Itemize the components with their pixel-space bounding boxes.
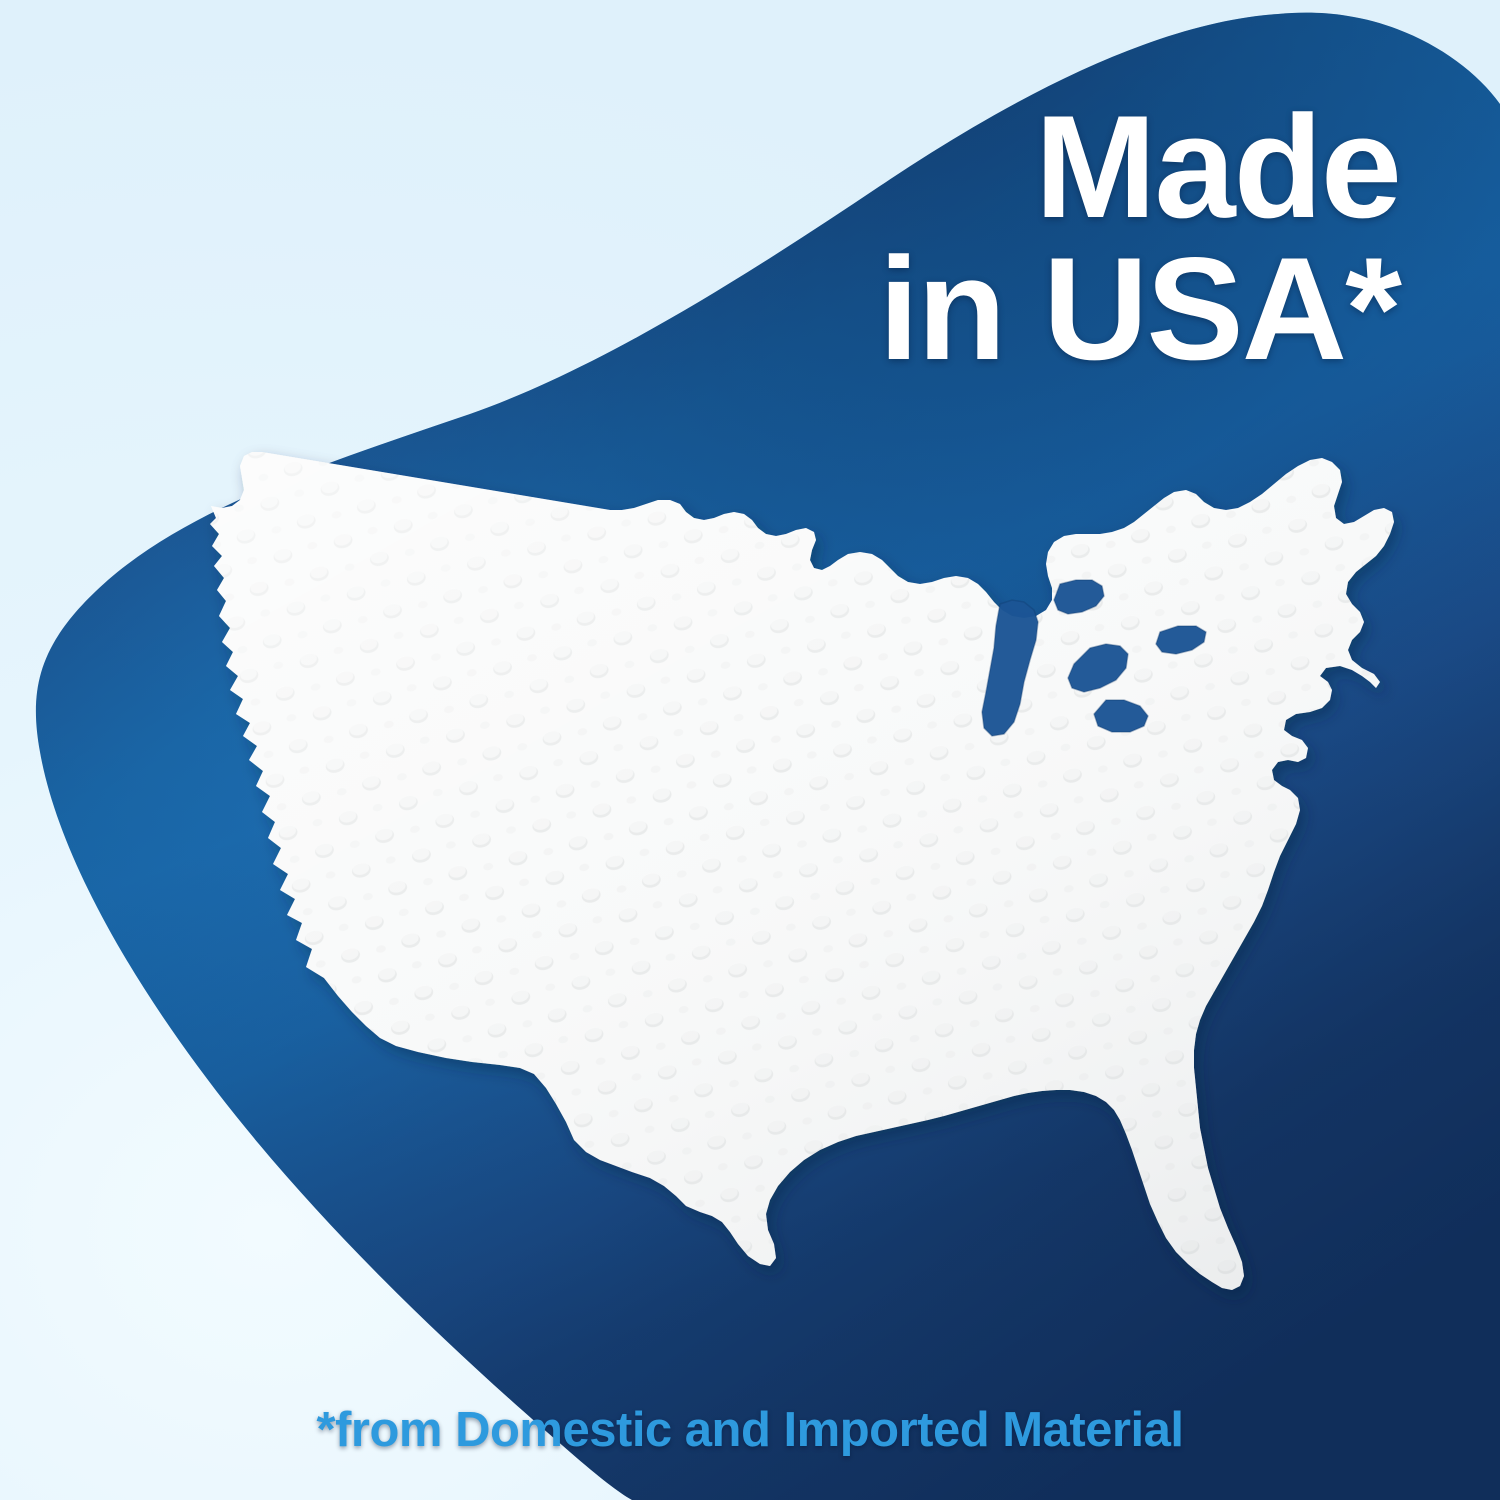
made-in-usa-graphic: Made in USA* *from Domestic and Imported… bbox=[0, 0, 1500, 1500]
page-title: Made in USA* bbox=[660, 96, 1400, 379]
footnote-disclaimer: *from Domestic and Imported Material bbox=[0, 1402, 1500, 1458]
